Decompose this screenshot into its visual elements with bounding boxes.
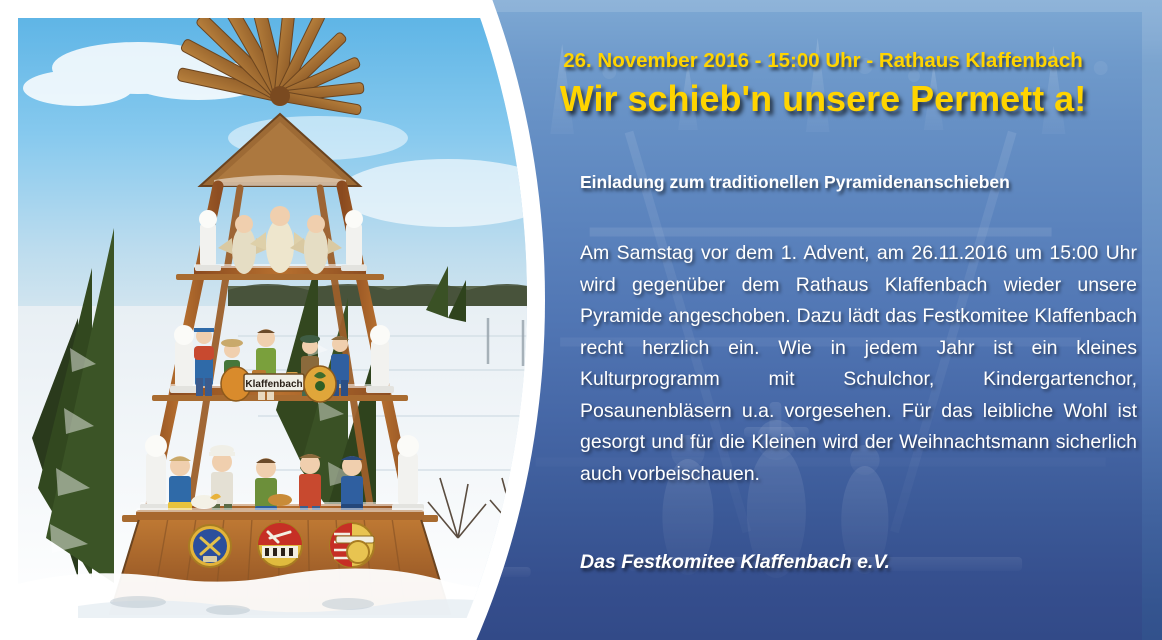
poster: Klaffenbach: [0, 0, 1162, 640]
poster-body-text: Am Samstag vor dem 1. Advent, am 26.11.2…: [580, 238, 1137, 490]
event-kicker: 26. November 2016 - 15:00 Uhr - Rathaus …: [505, 49, 1141, 73]
poster-headline: Wir schieb'n unsere Permett a!: [505, 78, 1141, 120]
poster-subheadline: Einladung zum traditionellen Pyramidenan…: [580, 172, 1140, 193]
poster-signature: Das Festkomitee Klaffenbach e.V.: [580, 551, 1140, 574]
text-layer: 26. November 2016 - 15:00 Uhr - Rathaus …: [0, 0, 1162, 640]
